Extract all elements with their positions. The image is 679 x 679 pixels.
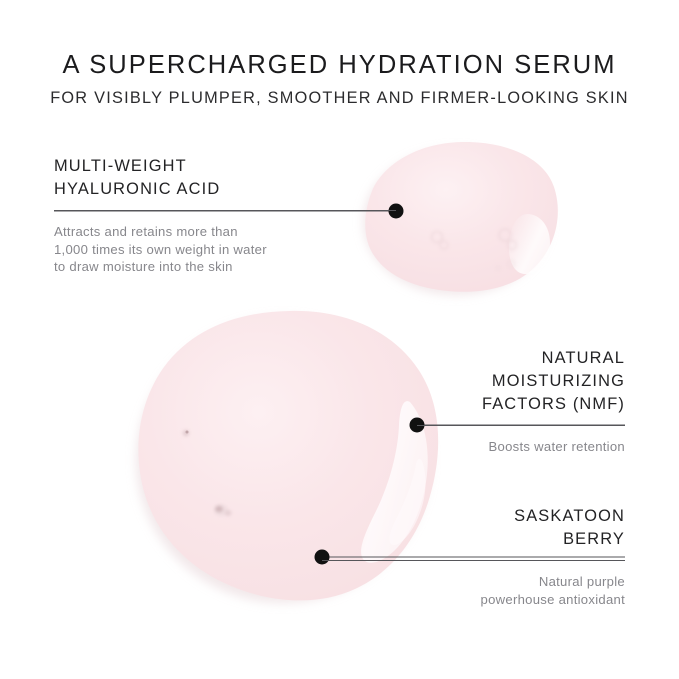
callout-heading-line: BERRY [322, 528, 625, 551]
callout-heading: MULTI-WEIGHT HYALURONIC ACID [54, 155, 396, 201]
callout-body: Attracts and retains more than 1,000 tim… [54, 223, 396, 276]
callout-heading-line: MULTI-WEIGHT [54, 155, 396, 178]
callout-heading: NATURAL MOISTURIZING FACTORS (NMF) [417, 347, 625, 416]
callout-natural-moisturizing-factors: NATURAL MOISTURIZING FACTORS (NMF) Boost… [417, 347, 625, 456]
callout-body-line: 1,000 times its own weight in water [54, 241, 396, 259]
callout-divider [54, 210, 396, 211]
product-infographic: A SUPERCHARGED HYDRATION SERUM FOR VISIB… [0, 0, 679, 679]
droplet-gloss [509, 214, 550, 274]
callout-heading-line: MOISTURIZING [417, 370, 625, 393]
callout-divider [417, 425, 625, 426]
callout-divider [322, 560, 625, 561]
callout-heading-line: NATURAL [417, 347, 625, 370]
page-title: A SUPERCHARGED HYDRATION SERUM [0, 53, 679, 79]
callout-body-line: Natural purple [322, 573, 625, 591]
callout-body-line: powerhouse antioxidant [322, 591, 625, 609]
callout-saskatoon-berry: SASKATOON BERRY Natural purple powerhous… [322, 505, 625, 608]
callout-body: Boosts water retention [417, 438, 625, 456]
callout-heading-line: HYALURONIC ACID [54, 178, 396, 201]
callout-body-line: to draw moisture into the skin [54, 258, 396, 276]
callout-heading: SASKATOON BERRY [322, 505, 625, 551]
callout-body-line: Boosts water retention [417, 438, 625, 456]
page-subtitle: FOR VISIBLY PLUMPER, SMOOTHER AND FIRMER… [0, 90, 679, 106]
callout-heading-line: SASKATOON [322, 505, 625, 528]
callout-hyaluronic-acid: MULTI-WEIGHT HYALURONIC ACID Attracts an… [54, 155, 396, 276]
callout-body: Natural purple powerhouse antioxidant [322, 573, 625, 608]
callout-body-line: Attracts and retains more than [54, 223, 396, 241]
callout-heading-line: FACTORS (NMF) [417, 393, 625, 416]
